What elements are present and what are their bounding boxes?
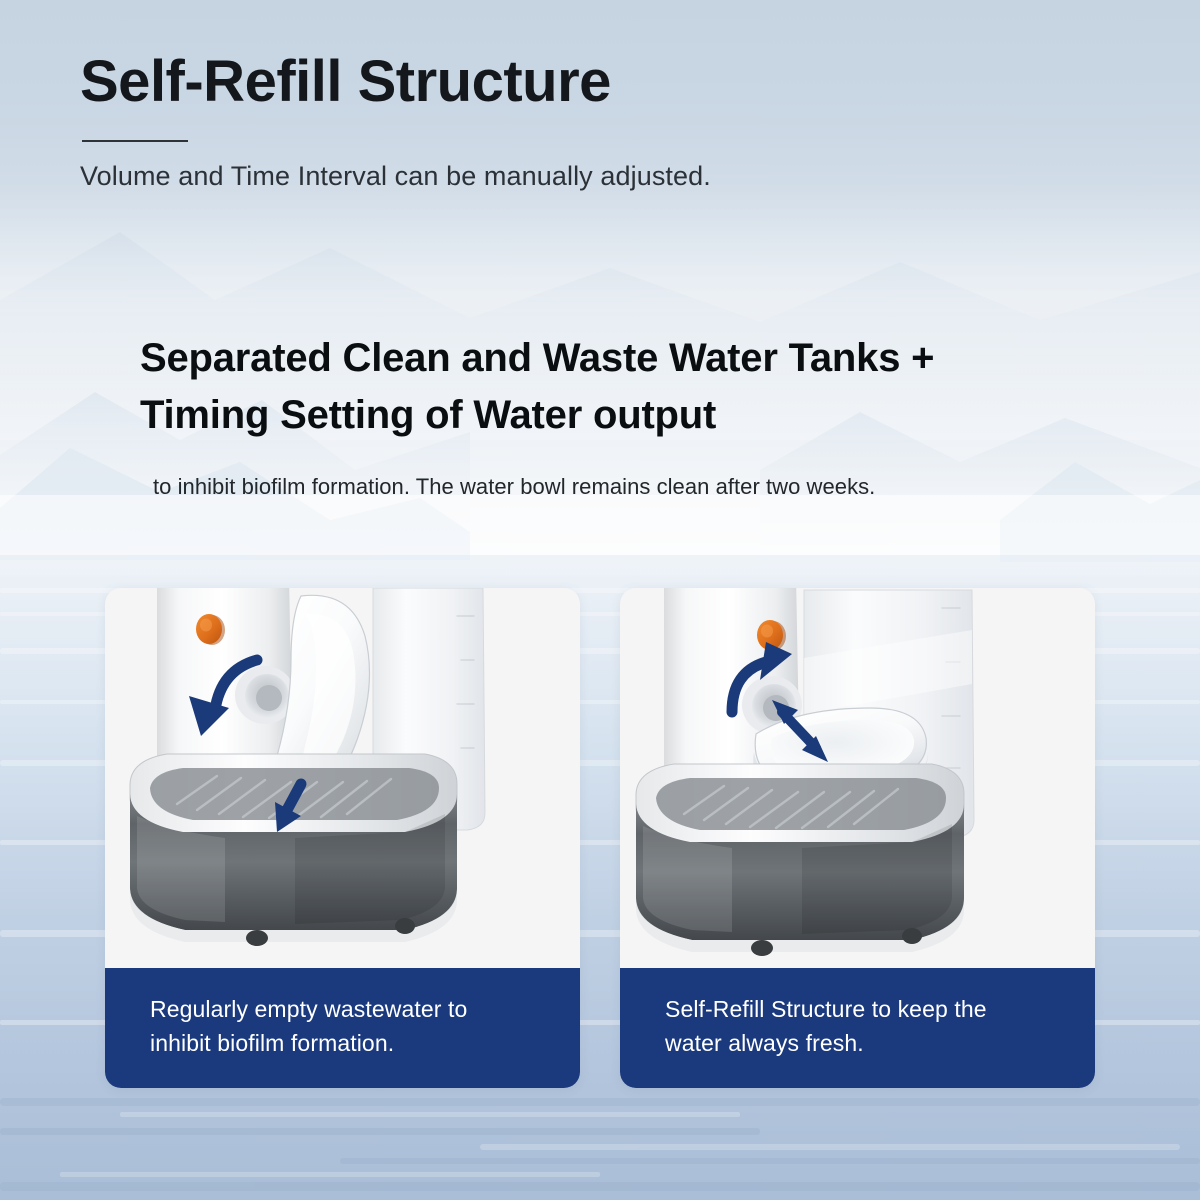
illustration-bowl-seated-refill: [620, 588, 1095, 968]
title-divider: [82, 140, 188, 142]
card-caption-left: Regularly empty wastewater to inhibit bi…: [105, 968, 580, 1088]
page-title: Self-Refill Structure: [80, 52, 1120, 113]
orange-button-highlight: [200, 619, 212, 632]
card-empty-wastewater[interactable]: Regularly empty wastewater to inhibit bi…: [105, 588, 580, 1088]
orange-button-highlight: [761, 625, 773, 638]
caption-line-2: water always fresh.: [665, 1026, 1065, 1060]
card-self-refill[interactable]: Self-Refill Structure to keep the water …: [620, 588, 1095, 1088]
caption-line-1: Self-Refill Structure to keep the: [665, 992, 1065, 1026]
caption-line-1: Regularly empty wastewater to: [150, 992, 550, 1026]
page-subtitle: Volume and Time Interval can be manually…: [80, 160, 1120, 194]
illustration-bowl-tilted-pouring: [105, 588, 580, 968]
spout-hole: [256, 685, 282, 711]
feature-heading-line-1: Separated Clean and Waste Water Tanks +: [140, 336, 934, 380]
feature-cards: Regularly empty wastewater to inhibit bi…: [105, 588, 1095, 1088]
feature-heading: Separated Clean and Waste Water Tanks + …: [140, 330, 1140, 444]
caption-line-2: inhibit biofilm formation.: [150, 1026, 550, 1060]
feature-description: to inhibit biofilm formation. The water …: [153, 474, 1140, 500]
base-foot-right: [395, 918, 415, 934]
product-feature-page: Self-Refill Structure Volume and Time In…: [0, 0, 1200, 1200]
page-header: Self-Refill Structure Volume and Time In…: [80, 52, 1120, 194]
base-foot-left: [751, 940, 773, 956]
base-foot-right: [902, 928, 922, 944]
feature-block: Separated Clean and Waste Water Tanks + …: [140, 330, 1140, 500]
card-caption-right: Self-Refill Structure to keep the water …: [620, 968, 1095, 1088]
feature-heading-line-2: Timing Setting of Water output: [140, 393, 716, 437]
base-foot-left: [246, 930, 268, 946]
